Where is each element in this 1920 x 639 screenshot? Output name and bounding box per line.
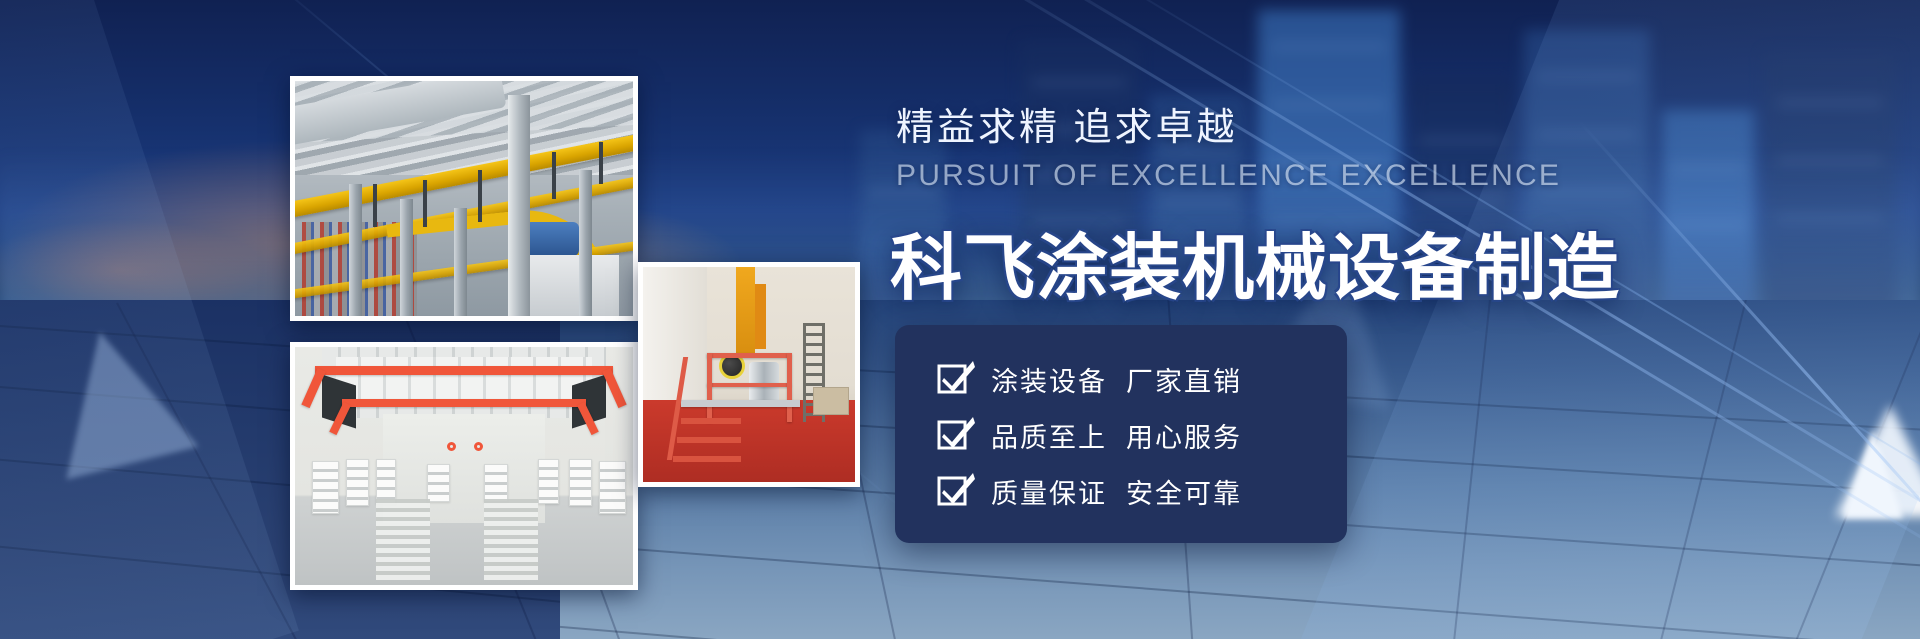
headline-block: 精益求精 追求卓越 PURSUIT OF EXCELLENCE EXCELLEN… [880,96,1740,314]
hero-banner: 精益求精 追求卓越 PURSUIT OF EXCELLENCE EXCELLEN… [0,0,1920,639]
subtitle-english: PURSUIT OF EXCELLENCE EXCELLENCE [896,159,1740,193]
checkbox-checked-icon [937,362,973,396]
photo-conveyor-line [290,76,638,321]
photo-spray-booth [290,342,638,590]
photo-red-platform [638,262,860,487]
feature-text: 质量保证 安全可靠 [991,472,1242,511]
feature-text: 品质至上 用心服务 [991,416,1242,455]
feature-text: 涂装设备 厂家直销 [991,360,1242,399]
checkbox-checked-icon [937,418,973,452]
list-item: 品质至上 用心服务 [937,407,1347,463]
list-item: 质量保证 安全可靠 [937,463,1347,519]
list-item: 涂装设备 厂家直销 [937,351,1347,407]
light-cone-right-core-icon [1843,430,1903,518]
checkbox-checked-icon [937,474,973,508]
tagline: 精益求精 追求卓越 [896,96,1740,151]
feature-list-panel: 涂装设备 厂家直销 品质至上 用心服务 质量保证 安全可靠 [895,325,1347,543]
page-title: 科飞涂装机械设备制造 [890,209,1740,314]
